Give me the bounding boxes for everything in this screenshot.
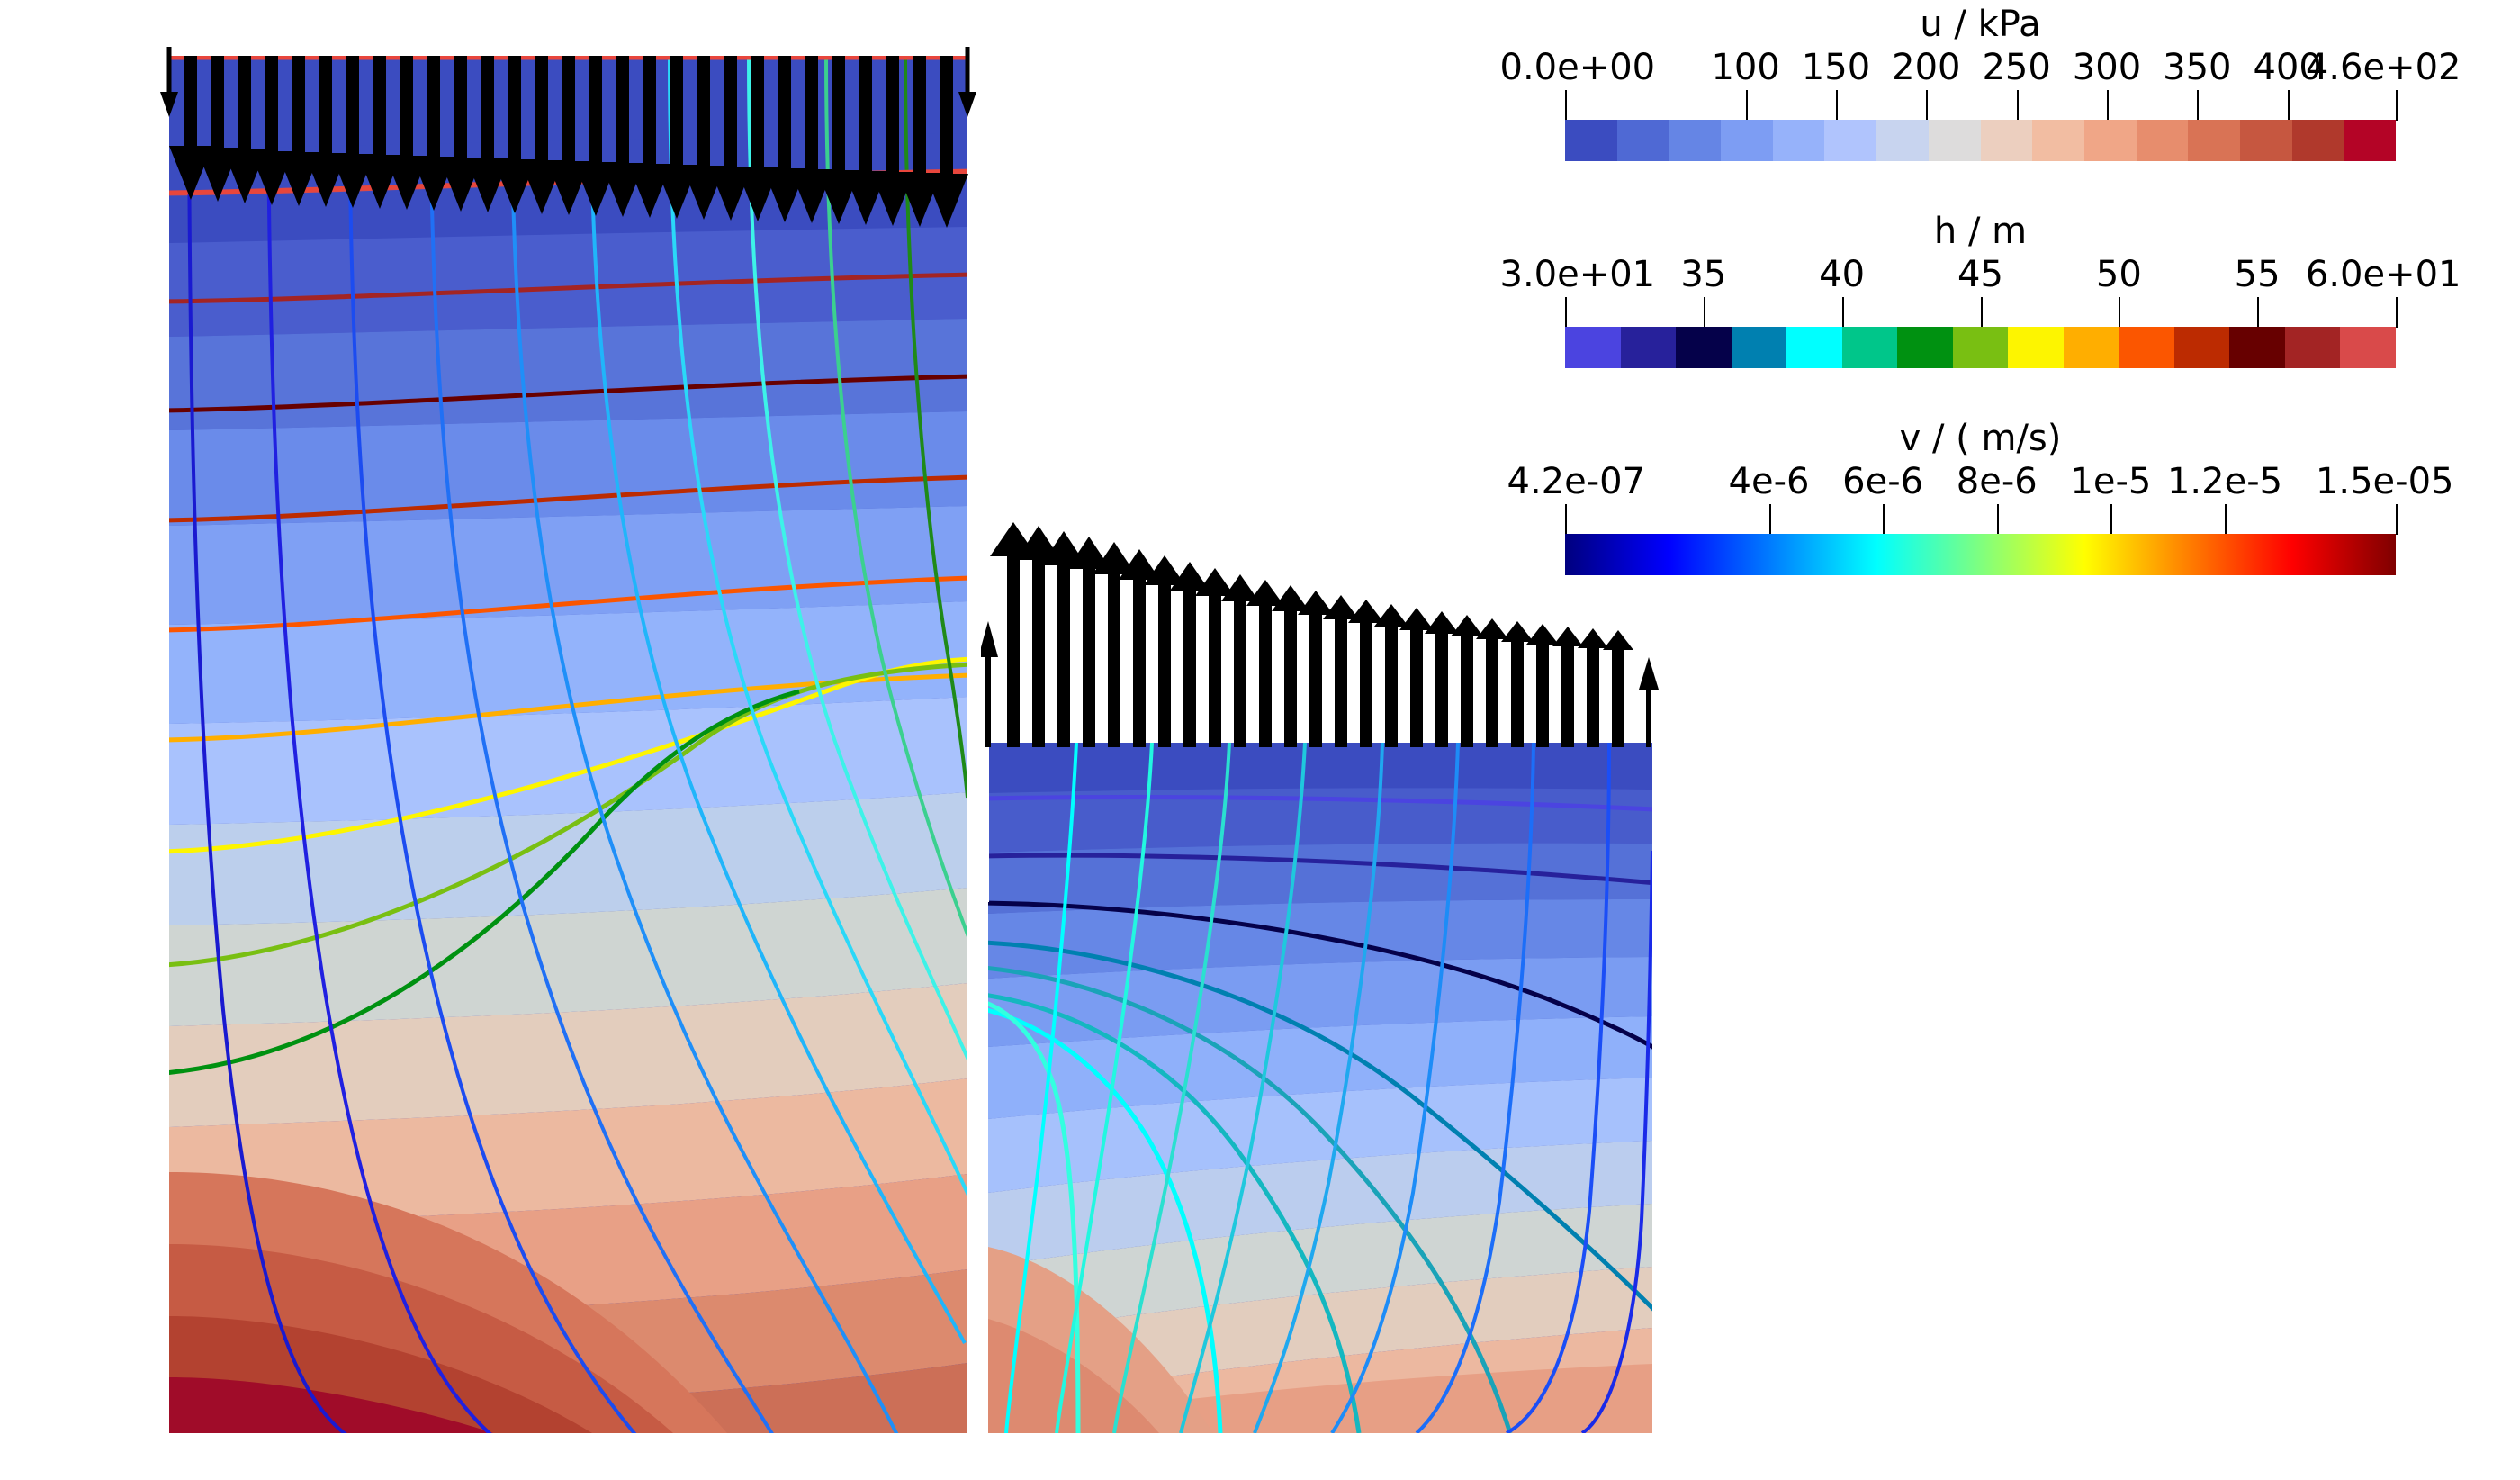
colorbar-segment-12 bbox=[2229, 327, 2285, 368]
colorbar-segment-11 bbox=[2174, 327, 2230, 368]
colorbar-head-labels: 3.0e+01 35 40 45 50 55 6.0e+01 bbox=[1565, 254, 2396, 297]
colorbar-head: h / m 3.0e+01 35 40 45 50 55 6.0e+01 bbox=[1565, 207, 2396, 369]
colorbar-segment-6 bbox=[1897, 327, 1953, 368]
cb-v-label-4: 1e-5 bbox=[2070, 461, 2151, 502]
colorbar-segment-2 bbox=[1676, 327, 1732, 368]
cb-h-label-4: 50 bbox=[2096, 254, 2142, 295]
colorbar-segment-3 bbox=[1732, 327, 1787, 368]
colorbar-segment-10 bbox=[2119, 327, 2174, 368]
colorbar-velocity-labels: 4.2e-07 4e-6 6e-6 8e-6 1e-5 1.2e-5 1.5e-… bbox=[1565, 461, 2396, 504]
colorbar-segment-13 bbox=[2285, 327, 2341, 368]
cb-h-label-3: 45 bbox=[1957, 254, 2003, 295]
colorbar-velocity-ticks bbox=[1565, 504, 2396, 535]
cb-u-tick-3 bbox=[1926, 90, 1928, 121]
colorbar-segment-3 bbox=[1721, 120, 1773, 161]
colorbar-segment-13 bbox=[2240, 120, 2292, 161]
cb-v-tick-0 bbox=[1565, 504, 1567, 535]
cb-h-tick-6 bbox=[2396, 297, 2398, 328]
cb-u-label-0: 0.0e+00 bbox=[1499, 47, 1655, 88]
colorbar-segment-1 bbox=[1621, 327, 1677, 368]
colorbar-segment-4 bbox=[1786, 327, 1842, 368]
colorbar-head-strip[interactable] bbox=[1565, 327, 2396, 368]
cb-u-label-8: 4.6e+02 bbox=[2306, 47, 2461, 88]
upstream-domain bbox=[169, 56, 967, 1433]
cb-v-tick-6 bbox=[2396, 504, 2398, 535]
figure-canvas: u / kPa 0.0e+00 100 150 200 250 300 350 … bbox=[0, 0, 2520, 1480]
cb-u-tick-4 bbox=[2017, 90, 2019, 121]
colorbar-segment-9 bbox=[2032, 120, 2084, 161]
cb-v-label-3: 8e-6 bbox=[1957, 461, 2038, 502]
cb-u-label-6: 350 bbox=[2163, 47, 2231, 88]
colorbar-segment-5 bbox=[1842, 327, 1898, 368]
colorbar-segment-0 bbox=[1565, 327, 1621, 368]
colorbar-segment-11 bbox=[2137, 120, 2189, 161]
colorbar-segment-12 bbox=[2188, 120, 2240, 161]
colorbar-segment-10 bbox=[2084, 120, 2137, 161]
colorbar-segment-0 bbox=[1565, 120, 1617, 161]
cb-v-tick-4 bbox=[2110, 504, 2112, 535]
cb-v-label-5: 1.2e-5 bbox=[2167, 461, 2282, 502]
cb-h-label-5: 55 bbox=[2235, 254, 2281, 295]
colorbar-segment-4 bbox=[1773, 120, 1825, 161]
colorbar-velocity: v / ( m/s) 4.2e-07 4e-6 6e-6 8e-6 1e-5 1… bbox=[1565, 414, 2396, 576]
cb-h-tick-1 bbox=[1704, 297, 1705, 328]
cb-h-label-0: 3.0e+01 bbox=[1499, 254, 1655, 295]
pressure-field-left bbox=[169, 56, 967, 1433]
cb-h-label-2: 40 bbox=[1819, 254, 1865, 295]
cb-u-tick-0 bbox=[1565, 90, 1567, 121]
colorbar-segment-7 bbox=[1929, 120, 1981, 161]
cb-u-label-3: 200 bbox=[1892, 47, 1960, 88]
cb-v-tick-2 bbox=[1883, 504, 1885, 535]
arrow-glyph-group bbox=[981, 522, 1659, 747]
colorbar-pressure-ticks bbox=[1565, 90, 2396, 121]
downstream-domain bbox=[988, 743, 1652, 1433]
colorbar-velocity-strip[interactable] bbox=[1565, 534, 2396, 575]
cb-h-tick-3 bbox=[1981, 297, 1983, 328]
cb-h-tick-5 bbox=[2257, 297, 2259, 328]
colorbar-segment-2 bbox=[1669, 120, 1721, 161]
colorbar-segment-9 bbox=[2064, 327, 2119, 368]
cb-u-tick-7 bbox=[2288, 90, 2290, 121]
colorbar-segment-14 bbox=[2292, 120, 2344, 161]
colorbar-segment-8 bbox=[1981, 120, 2033, 161]
colorbar-pressure: u / kPa 0.0e+00 100 150 200 250 300 350 … bbox=[1565, 0, 2396, 162]
colorbar-head-title: h / m bbox=[1565, 211, 2396, 252]
cb-u-label-4: 250 bbox=[1982, 47, 2050, 88]
cb-u-label-5: 300 bbox=[2073, 47, 2141, 88]
cb-h-tick-2 bbox=[1842, 297, 1844, 328]
cb-h-tick-4 bbox=[2119, 297, 2120, 328]
cb-v-label-2: 6e-6 bbox=[1842, 461, 1923, 502]
cb-u-label-2: 150 bbox=[1802, 47, 1870, 88]
cb-v-tick-1 bbox=[1769, 504, 1771, 535]
colorbar-head-ticks bbox=[1565, 297, 2396, 328]
cb-u-tick-1 bbox=[1746, 90, 1748, 121]
cb-h-label-1: 35 bbox=[1680, 254, 1726, 295]
cb-h-label-6: 6.0e+01 bbox=[2306, 254, 2461, 295]
colorbar-segment-5 bbox=[1824, 120, 1876, 161]
cb-v-label-0: 4.2e-07 bbox=[1507, 461, 1646, 502]
cb-u-tick-8 bbox=[2396, 90, 2398, 121]
cb-u-tick-5 bbox=[2107, 90, 2109, 121]
cb-v-label-6: 1.5e-05 bbox=[2316, 461, 2454, 502]
colorbar-segment-14 bbox=[2340, 327, 2396, 368]
cb-v-label-1: 4e-6 bbox=[1729, 461, 1810, 502]
colorbar-pressure-title: u / kPa bbox=[1565, 4, 2396, 45]
colorbar-segment-6 bbox=[1876, 120, 1929, 161]
colorbar-pressure-labels: 0.0e+00 100 150 200 250 300 350 400 4.6e… bbox=[1565, 47, 2396, 90]
colorbar-pressure-strip[interactable] bbox=[1565, 120, 2396, 161]
colorbar-segment-8 bbox=[2008, 327, 2064, 368]
cb-u-label-1: 100 bbox=[1711, 47, 1779, 88]
colorbar-velocity-title: v / ( m/s) bbox=[1565, 418, 2396, 459]
sheet-pile-wall bbox=[967, 56, 989, 902]
colorbar-segment-15 bbox=[2344, 120, 2396, 161]
pressure-field-right bbox=[988, 743, 1652, 1433]
cb-v-tick-3 bbox=[1997, 504, 1999, 535]
cb-h-tick-0 bbox=[1565, 297, 1567, 328]
cb-u-tick-6 bbox=[2197, 90, 2199, 121]
colorbar-segment-1 bbox=[1617, 120, 1669, 161]
cb-u-tick-2 bbox=[1836, 90, 1838, 121]
colorbar-segment-7 bbox=[1953, 327, 2009, 368]
cb-v-tick-5 bbox=[2225, 504, 2227, 535]
